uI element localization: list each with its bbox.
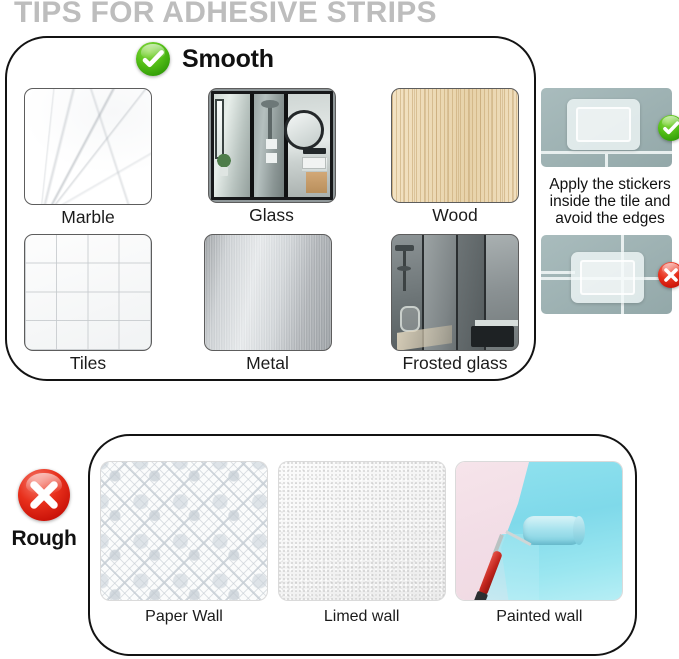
sticker-graphic [567, 99, 640, 150]
material-label: Paper Wall [101, 608, 267, 626]
material-label: Glass [208, 205, 336, 226]
material-label: Tiles [24, 353, 152, 374]
material-label: Metal [204, 353, 332, 374]
rough-material-grid: Paper Wall Limed wall Painted wall [101, 462, 623, 626]
smooth-material-grid: Marble Glass Wood Tiles Metal [24, 88, 519, 374]
frosted-glass-swatch-image [391, 234, 519, 351]
material-card-frosted-glass[interactable]: Frosted glass [391, 234, 519, 374]
material-label: Limed wall [279, 608, 445, 626]
rough-label: Rough [8, 527, 80, 551]
sticker-graphic [571, 252, 644, 303]
page-title: TIPS FOR ADHESIVE STRIPS [14, 0, 437, 30]
wood-swatch-image [391, 88, 519, 203]
material-label: Wood [391, 205, 519, 226]
metal-swatch-image [204, 234, 332, 351]
material-label: Marble [24, 207, 152, 228]
material-card-glass[interactable]: Glass [208, 88, 336, 228]
material-label: Frosted glass [391, 353, 519, 374]
tiles-swatch-image [24, 234, 152, 351]
material-card-painted-wall[interactable]: Painted wall [456, 462, 622, 626]
smooth-label: Smooth [182, 45, 274, 74]
paper-wall-swatch-image [101, 462, 267, 600]
material-card-metal[interactable]: Metal [204, 234, 332, 374]
smooth-heading: Smooth [136, 42, 274, 76]
red-x-icon [18, 469, 70, 521]
rough-heading: Rough [8, 469, 80, 551]
placement-tip-column: Apply the stickers inside the tile and a… [541, 88, 679, 314]
placement-tip-text: Apply the stickers inside the tile and a… [541, 176, 679, 227]
green-check-icon [658, 115, 679, 141]
glass-swatch-image [208, 88, 336, 203]
material-card-wood[interactable]: Wood [391, 88, 519, 228]
incorrect-placement-diagram [541, 235, 672, 314]
material-card-limed-wall[interactable]: Limed wall [279, 462, 445, 626]
material-card-marble[interactable]: Marble [24, 88, 152, 228]
correct-placement-diagram [541, 88, 672, 167]
material-card-tiles[interactable]: Tiles [24, 234, 152, 374]
marble-swatch-image [24, 88, 152, 205]
material-card-paper-wall[interactable]: Paper Wall [101, 462, 267, 626]
limed-wall-swatch-image [279, 462, 445, 600]
green-check-icon [136, 42, 170, 76]
red-x-icon [658, 262, 679, 288]
painted-wall-swatch-image [456, 462, 622, 600]
material-label: Painted wall [456, 608, 622, 626]
